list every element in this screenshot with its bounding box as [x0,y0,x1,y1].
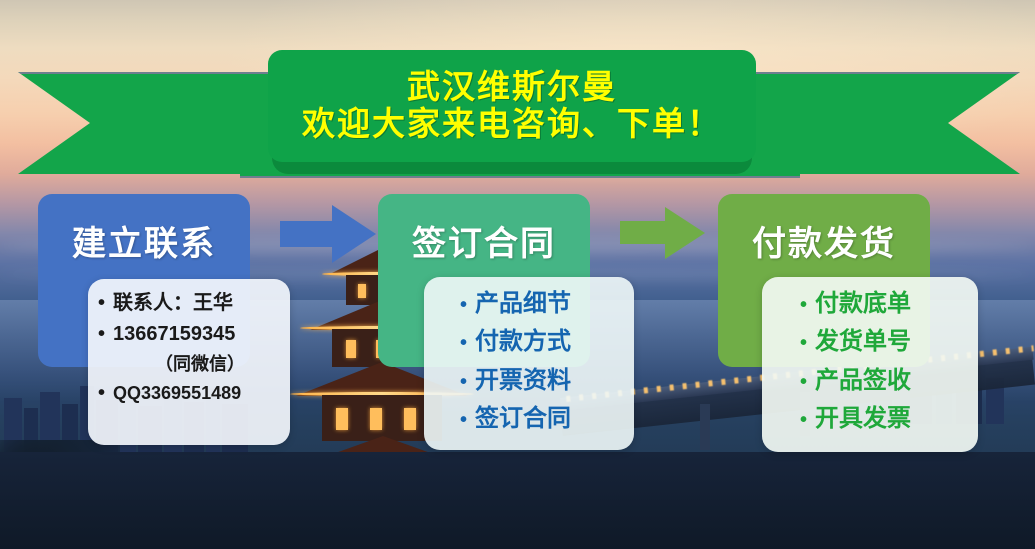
bullet-icon: • [98,324,105,344]
list-item: • 13667159345 [98,322,280,346]
list-item-label: 付款方式 [475,327,571,356]
pagoda-window [370,408,382,430]
step-1-content: • 联系人：王华 • 13667159345 （同微信） • QQ3369551… [88,279,290,445]
list-item-label: 签订合同 [475,404,571,433]
bullet-icon: • [460,410,467,430]
bullet-icon: • [460,295,467,315]
list-item-label: 产品签收 [815,366,911,395]
bullet-icon: • [800,372,807,392]
pagoda-window [404,408,416,430]
poster-canvas: 武汉维斯尔曼 欢迎大家来电咨询、下单！ 建立联系 • 联系人：王华 • 1366… [0,0,1035,549]
list-item: • 开具发票 [772,404,968,433]
list-item: • 开票资料 [434,366,624,395]
pagoda-window [346,340,356,358]
list-item-label: 发货单号 [815,327,911,356]
list-item-label: 开具发票 [815,404,911,433]
step-3-list: • 付款底单 • 发货单号 • 产品签收 • 开具发票 [772,289,968,433]
list-item-sub: （同微信） [98,354,280,376]
bullet-icon: • [98,383,105,403]
bridge-pier [700,404,710,450]
arrow-head [332,205,376,263]
list-item: • 发货单号 [772,327,968,356]
banner-title-box: 武汉维斯尔曼 欢迎大家来电咨询、下单！ [268,50,756,162]
list-item: • 产品细节 [434,289,624,318]
list-item-label: 13667159345 [113,322,235,346]
arrow-step2-to-step3-icon [620,207,706,259]
arrow-shaft [280,221,335,247]
bullet-icon: • [460,372,467,392]
list-item: • 产品签收 [772,366,968,395]
list-item-label: 开票资料 [475,366,571,395]
list-item: • 付款方式 [434,327,624,356]
step-1-title: 建立联系 [72,194,216,265]
pagoda-window [358,284,366,298]
list-item-label: QQ3369551489 [113,383,241,405]
banner-title-line1: 武汉维斯尔曼 [407,69,617,106]
list-item: • QQ3369551489 [98,383,280,405]
arrow-shaft [620,221,668,244]
step-2-content: • 产品细节 • 付款方式 • 开票资料 • 签订合同 [424,277,634,450]
foreground-cityscape [0,452,1035,549]
bullet-icon: • [800,295,807,315]
arrow-step1-to-step2-icon [280,205,376,263]
list-item-label: 产品细节 [475,289,571,318]
step-2-list: • 产品细节 • 付款方式 • 开票资料 • 签订合同 [434,289,624,433]
list-item-label: 付款底单 [815,289,911,318]
step-3-title: 付款发货 [752,194,896,265]
list-item-label: 联系人：王华 [113,291,233,315]
bullet-icon: • [98,293,105,313]
step-3-content: • 付款底单 • 发货单号 • 产品签收 • 开具发票 [762,277,978,452]
bullet-icon: • [800,333,807,353]
list-item: • 签订合同 [434,404,624,433]
list-item: • 联系人：王华 [98,291,280,315]
list-item-sublabel: （同微信） [120,354,280,376]
list-item: • 付款底单 [772,289,968,318]
step-1-list: • 联系人：王华 • 13667159345 （同微信） • QQ3369551… [98,291,280,405]
arrow-head [665,207,705,259]
bullet-icon: • [460,333,467,353]
bullet-icon: • [800,410,807,430]
step-2-title: 签订合同 [412,194,556,265]
pagoda-window [336,408,348,430]
banner-title-line2: 欢迎大家来电咨询、下单！ [302,106,722,143]
